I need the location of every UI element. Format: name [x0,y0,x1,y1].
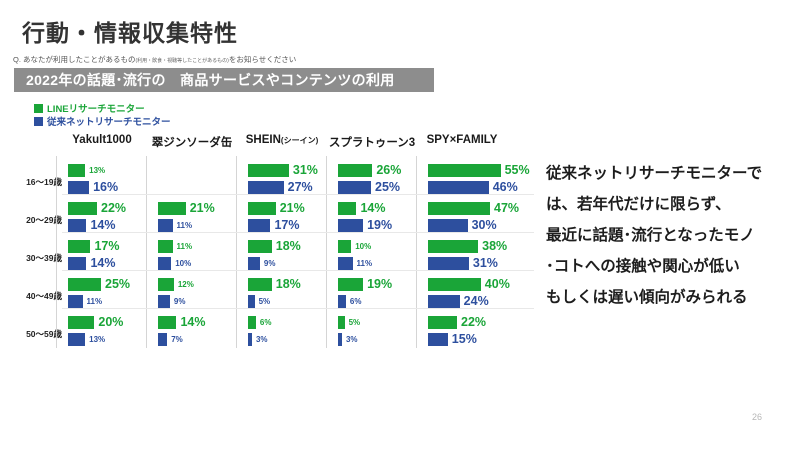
bar-value-label: 21% [190,202,215,215]
bar-legacy [338,219,363,232]
bar-value-label: 18% [276,278,301,291]
panel-header-4: スプラトゥーン3 [328,134,416,150]
age-label-1: 16〜19歳 [8,176,62,188]
bar-line [158,316,176,329]
bar-line [248,316,256,329]
bar-line [248,240,272,253]
bar-value-label: 19% [367,278,392,291]
bar-legacy [158,257,171,270]
bar-value-label: 30% [472,219,497,232]
commentary-block: 従来ネットリサーチモニターでは、若年代だけに限らず、最近に話題･流行となったモノ… [546,158,796,313]
panel-header-label: SHEIN [246,134,281,146]
bar-legacy [428,257,469,270]
legend-item-line: LINEリサーチモニター [34,102,171,114]
age-label-3: 30〜39歳 [8,252,62,264]
bar-value-label: 40% [485,278,510,291]
section-banner: 2022年の話題･流行の 商品サービスやコンテンツの利用 [14,68,434,92]
bar-line [428,164,501,177]
row-divider [62,308,534,309]
bar-value-label: 7% [171,333,183,346]
bar-legacy [158,295,170,308]
bar-line [68,316,94,329]
panel-header-label: SPY×FAMILY [427,134,498,146]
bar-value-label: 17% [94,240,119,253]
bar-legacy [338,181,371,194]
commentary-line-3: 最近に話題･流行となったモノ [546,220,796,251]
bar-value-label: 14% [360,202,385,215]
bar-value-label: 6% [260,316,272,329]
bar-legacy [68,333,85,346]
bar-line [158,202,186,215]
row-divider [62,270,534,271]
bar-legacy [68,295,83,308]
bar-value-label: 10% [355,240,371,253]
age-label-5: 50〜59歳 [8,328,62,340]
row-divider [62,194,534,195]
bar-value-label: 11% [177,240,193,253]
bar-value-label: 19% [367,219,392,232]
bar-value-label: 47% [494,202,519,215]
panel-header-sublabel: (シーイン) [281,136,318,145]
bar-line [248,202,276,215]
bar-line [338,316,345,329]
bar-legacy [248,295,255,308]
slide-canvas: 行動・情報収集特性 Q. あなたが利用したことがあるもの(利用・飲食・視聴等した… [0,0,800,450]
bar-value-label: 14% [90,257,115,270]
panel-header-2: 翠ジンソーダ缶 [148,134,236,150]
bar-value-label: 9% [174,295,186,308]
bar-legacy [158,333,167,346]
panel-header-5: SPY×FAMILY [418,134,506,146]
bar-legacy [338,333,342,346]
bar-line [428,202,490,215]
panel-headers: Yakult1000翠ジンソーダ缶SHEIN(シーイン)スプラトゥーン3SPY×… [0,134,540,154]
panel-header-label: スプラトゥーン3 [329,137,415,149]
bar-legacy [428,219,468,232]
bar-value-label: 14% [90,219,115,232]
bar-value-label: 25% [375,181,400,194]
bar-value-label: 27% [288,181,313,194]
question-parenthetical: (利用・飲食・視聴等したことがあるもの) [136,58,229,64]
bar-line [248,164,289,177]
bar-line [428,316,457,329]
bar-line [428,278,481,291]
bar-value-label: 15% [452,333,477,346]
chart-area: Yakult1000翠ジンソーダ缶SHEIN(シーイン)スプラトゥーン3SPY×… [0,134,540,348]
bar-value-label: 13% [89,333,105,346]
bar-value-label: 11% [357,257,373,270]
bar-line [338,240,351,253]
legend-swatch-icon [34,117,43,126]
panel-divider [236,156,237,348]
bar-line [68,278,101,291]
row-divider [62,232,534,233]
legend-item-label: 従来ネットリサーチモニター [47,114,171,128]
question-text: Q. あなたが利用したことがあるもの [13,55,136,64]
bar-value-label: 5% [259,295,271,308]
panel-divider [326,156,327,348]
bar-legacy [68,181,89,194]
legend-item-legacy: 従来ネットリサーチモニター [34,115,171,127]
bar-value-label: 13% [89,164,105,177]
panel-header-label: 翠ジンソーダ缶 [152,137,233,149]
bar-line [338,202,356,215]
panel-divider [416,156,417,348]
bar-value-label: 18% [276,240,301,253]
bar-value-label: 31% [473,257,498,270]
panel-header-1: Yakult1000 [58,134,146,146]
chart-legend: LINEリサーチモニター従来ネットリサーチモニター [34,102,171,128]
legend-swatch-icon [34,104,43,113]
bar-value-label: 12% [178,278,194,291]
bar-legacy [428,333,448,346]
panel-divider [146,156,147,348]
panel-header-label: Yakult1000 [72,134,131,146]
bar-legacy [428,181,489,194]
bar-value-label: 24% [464,295,489,308]
bar-value-label: 6% [350,295,362,308]
bar-value-label: 46% [493,181,518,194]
bar-line [338,164,372,177]
bar-value-label: 25% [105,278,130,291]
bar-line [428,240,478,253]
bar-value-label: 3% [256,333,268,346]
bar-grid: 16〜19歳20〜29歳30〜39歳40〜49歳50〜59歳13%22%17%2… [0,156,540,348]
bar-line [68,164,85,177]
bar-value-label: 31% [293,164,318,177]
bar-value-label: 22% [101,202,126,215]
bar-legacy [158,219,173,232]
bar-line [248,278,272,291]
page-title: 行動・情報収集特性 [22,14,238,48]
bar-legacy [428,295,460,308]
bar-line [68,240,90,253]
bar-value-label: 38% [482,240,507,253]
bar-value-label: 11% [177,219,193,232]
bar-value-label: 26% [376,164,401,177]
age-label-2: 20〜29歳 [8,214,62,226]
bar-legacy [248,219,270,232]
legend-item-label: LINEリサーチモニター [47,101,145,115]
panel-header-3: SHEIN(シーイン) [238,134,326,146]
panel-divider [56,156,57,348]
section-banner-label: 2022年の話題･流行の 商品サービスやコンテンツの利用 [14,70,395,90]
bar-value-label: 10% [175,257,191,270]
bar-legacy [248,257,260,270]
bar-value-label: 20% [98,316,123,329]
page-number: 26 [752,412,762,422]
bar-line [338,278,363,291]
bar-legacy [248,181,284,194]
bar-line [68,202,97,215]
bar-legacy [68,219,86,232]
bar-value-label: 5% [349,316,361,329]
bar-line [158,278,174,291]
bar-value-label: 55% [505,164,530,177]
bar-value-label: 22% [461,316,486,329]
commentary-line-2: は、若年代だけに限らず、 [546,189,796,220]
age-label-4: 40〜49歳 [8,290,62,302]
bar-value-label: 21% [280,202,305,215]
bar-legacy [68,257,86,270]
commentary-line-5: もしくは遅い傾向がみられる [546,282,796,313]
question-tail: をお知らせください [229,55,296,64]
bar-legacy [248,333,252,346]
commentary-line-1: 従来ネットリサーチモニターで [546,158,796,189]
bar-value-label: 17% [274,219,299,232]
commentary-line-4: ･コトへの接触や関心が低い [546,251,796,282]
bar-line [158,240,173,253]
bar-value-label: 14% [180,316,205,329]
bar-value-label: 11% [87,295,103,308]
bar-value-label: 9% [264,257,276,270]
bar-legacy [338,295,346,308]
bar-value-label: 3% [346,333,358,346]
bar-legacy [338,257,353,270]
question-line: Q. あなたが利用したことがあるもの(利用・飲食・視聴等したことがあるもの)をお… [13,54,296,65]
bar-value-label: 16% [93,181,118,194]
